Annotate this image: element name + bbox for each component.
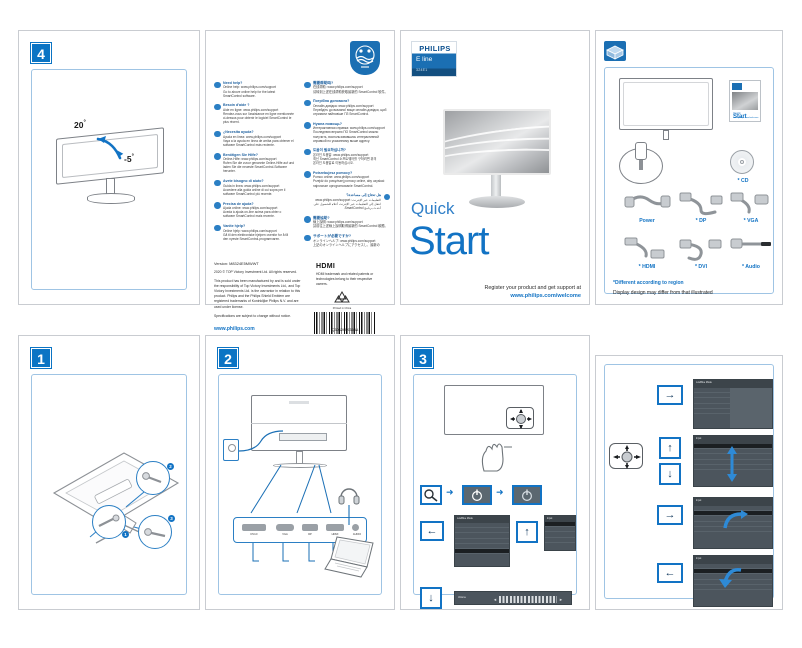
arrow-down-icon: ↓	[428, 593, 434, 604]
osd-row[interactable]	[545, 538, 575, 543]
globe-icon	[214, 180, 221, 187]
scroll-updown-arrow-icon	[724, 446, 740, 482]
accessory-vga-cable	[729, 190, 775, 221]
globe-icon	[214, 202, 221, 209]
language-entry: Нужна помощь? Интерактивная справка: www…	[304, 122, 390, 143]
osd-nav-menu-4: Input	[693, 555, 773, 607]
monitor-with-joystick	[444, 385, 548, 441]
callout-circle-3	[138, 515, 172, 549]
globe-icon	[304, 100, 311, 107]
joystick-control[interactable]	[506, 407, 534, 429]
language-column-right: 需要帮助吗? 在线帮助: www.philips.com/support请转到上…	[304, 81, 390, 252]
panel-tilt: 4 20° -5°	[18, 30, 200, 305]
port-label-dp: DP	[298, 533, 322, 536]
accessories-inner: Quick Start www.philips.com/welcome * CD	[604, 67, 774, 294]
panel-cover: PHILIPS E line 324E1 Quick Start Registe…	[400, 30, 590, 305]
globe-icon	[304, 216, 311, 223]
box-glyph	[604, 41, 626, 61]
panel-osd-navigation: → LowBlue Mode ↑ ↓	[595, 355, 783, 610]
sequence-arrow-1: ➜	[446, 487, 454, 498]
step-badge-4: 4	[31, 43, 51, 63]
back-arrow-icon	[718, 566, 744, 588]
card-url: www.philips.com/welcome	[733, 117, 758, 119]
panel-connections-inner: DVI-D VGA DP HDMI AUDIO	[218, 374, 382, 595]
accessory-dvi-cable	[677, 236, 725, 267]
accessory-monitor	[619, 78, 717, 140]
language-entry: Avete bisogno di aiuto? Guida in linea: …	[214, 179, 300, 196]
port-icon-dvi	[242, 524, 266, 531]
osd-volume-label: Volume	[458, 596, 466, 599]
osd-nav-menu-2: Input	[693, 435, 773, 487]
globe-icon	[214, 104, 221, 111]
power-icon	[521, 488, 533, 502]
hand-pointer-icon	[474, 437, 514, 473]
panel-base-assembly: 1	[18, 335, 200, 610]
osd-menu-title: Input	[696, 499, 701, 502]
power-icon	[471, 488, 483, 502]
osd-volume-bar[interactable]: Volume ◄ ►	[454, 591, 572, 605]
osd-menu-title: LowBlue Mode	[696, 381, 712, 384]
language-entry: Potrzebujesz pomocy? Pomoc online: www.p…	[304, 171, 390, 188]
title-quick: Quick	[411, 199, 454, 219]
callout-circle-1	[92, 505, 126, 539]
port-label-vga: VGA	[272, 533, 298, 536]
osd-nav-key-left[interactable]: ←	[657, 563, 683, 583]
osd-nav-key-right-1[interactable]: →	[657, 385, 683, 405]
accessory-stand-base	[619, 142, 669, 186]
osd-menu-lowblue: LowBlue Mode	[454, 515, 510, 567]
laptop-glyph	[323, 533, 381, 583]
osd-nav-key-up[interactable]: ↑	[659, 437, 681, 459]
osd-menu-input: Input	[544, 515, 576, 551]
philips-url[interactable]: www.philips.com	[214, 326, 255, 332]
accessory-hdmi-cable	[623, 236, 671, 267]
language-entry: 需要協助? 線上說明: www.philips.com/support請前往上述…	[304, 216, 390, 229]
globe-icon	[304, 122, 311, 129]
callout-number-1: 1	[122, 531, 129, 538]
card-logo-band	[732, 83, 742, 90]
joystick-glyph	[610, 444, 644, 470]
step-badge-1: 1	[31, 348, 51, 368]
dp-cable-glyph	[677, 190, 725, 216]
dvi-cable-glyph	[677, 236, 725, 262]
language-entry: Besoin d'aide ? Aide en ligne: www.phili…	[214, 103, 300, 124]
audio-cable-glyph	[729, 236, 775, 262]
joystick-glyph	[507, 408, 535, 430]
globe-icon	[304, 149, 311, 156]
callout-circle-2	[136, 461, 170, 495]
osd-menu-title: Input	[696, 557, 701, 560]
arrow-right-icon: →	[665, 390, 676, 401]
accessory-label-vga: * VGA	[725, 218, 777, 224]
register-text: Register your product and get support at	[431, 285, 581, 291]
laptop-illustration	[323, 533, 381, 583]
globe-icon	[214, 82, 221, 89]
globe-icon	[384, 194, 391, 201]
joystick-press-icon	[423, 488, 439, 502]
panel-accessories: Quick Start www.philips.com/welcome * CD	[595, 30, 783, 305]
box-open-icon	[604, 41, 626, 61]
osd-key-down[interactable]: ↓	[420, 587, 442, 609]
globe-icon	[214, 131, 221, 138]
osd-key-press[interactable]	[420, 485, 442, 505]
panel-tilt-inner: 20° -5°	[31, 69, 187, 290]
tilt-angle-down: -5°	[124, 154, 134, 164]
philips-shield-icon	[350, 41, 380, 75]
print-origin: Printed in China	[322, 307, 362, 310]
arrow-up-icon: ↑	[524, 527, 530, 538]
volume-level-ticks	[499, 596, 557, 603]
language-column-left: Need help? Online help: www.philips.com/…	[214, 81, 300, 246]
language-entry: 도움이 필요하십니까? 온라인 도움말: www.philips.com/sup…	[304, 148, 390, 165]
panel-connections: 2	[205, 335, 395, 610]
title-start: Start	[409, 219, 488, 264]
osd-menu-title: Input	[696, 437, 701, 440]
language-entry: Потрібна допомога? Онлайн-довідка: www.p…	[304, 99, 390, 116]
panel-power-osd: 3	[400, 335, 590, 610]
language-entry: サポートが必要ですか? オンラインヘルプ: www.philips.com/su…	[304, 234, 390, 247]
globe-icon	[214, 225, 221, 232]
product-series: E line	[416, 56, 432, 63]
philips-shield-glyph	[350, 41, 380, 75]
arrow-down-icon: ↓	[667, 469, 673, 480]
vga-cable-glyph	[729, 190, 775, 216]
osd-nav-key-down[interactable]: ↓	[659, 463, 681, 485]
accessory-quick-start-card: Quick Start www.philips.com/welcome	[729, 80, 761, 122]
tilt-monitor-illustration	[54, 125, 172, 210]
hero-monitor	[443, 109, 555, 229]
register-url[interactable]: www.philips.com/welcome	[431, 293, 581, 299]
step-badge-2: 2	[218, 348, 238, 368]
osd-key-up[interactable]: ↑	[516, 521, 538, 543]
tilt-angle-up: 20°	[74, 120, 86, 130]
sequence-arrow-2: ➜	[496, 487, 504, 498]
accessory-label-dvi: * DVI	[675, 264, 727, 270]
hdmi-cable-glyph	[623, 236, 671, 262]
language-entry: Precisa de ajuda? Ajuda online: www.phil…	[214, 202, 300, 219]
osd-key-left[interactable]: ←	[420, 521, 444, 541]
enter-submenu-arrow-icon	[722, 510, 748, 532]
card-monitor-image	[732, 92, 758, 110]
accessory-note-design: Display design may differ from that illu…	[613, 290, 713, 296]
hdmi-notice: HDMI trademark and related patents or te…	[316, 272, 376, 286]
globe-icon	[214, 153, 221, 160]
screwdriver-tool-icon	[139, 516, 173, 550]
panel-osd-nav-inner: → LowBlue Mode ↑ ↓	[604, 364, 774, 599]
arrow-left-icon: ←	[427, 526, 438, 537]
accessory-dp-cable	[677, 190, 725, 221]
callout-number-3: 3	[168, 515, 175, 522]
headphone-cable	[341, 505, 371, 533]
philips-brand-logo: PHILIPS E line 324E1	[411, 41, 457, 77]
language-entry: Vanite hjelp? Online hjelp: www.philips.…	[214, 224, 300, 241]
accessory-label-audio: * Audio	[725, 264, 777, 270]
headphone-glyph	[337, 485, 361, 507]
port-icon-dp	[302, 524, 318, 531]
recycle-icon	[331, 289, 353, 307]
philips-wordmark: PHILIPS	[412, 44, 458, 53]
globe-icon	[304, 82, 311, 89]
port-label-dvi: DVI-D	[238, 533, 270, 536]
panel-multilingual-help: Need help? Online help: www.philips.com/…	[205, 30, 395, 305]
panel-power-inner: ➜ ➜ ← LowBlue Mode	[413, 374, 577, 595]
osd-nav-menu-1: LowBlue Mode	[693, 379, 773, 429]
arrow-up-icon: ↑	[667, 443, 673, 454]
step-badge-3: 3	[413, 348, 433, 368]
product-model: 324E1	[416, 68, 427, 72]
osd-menu-title: Input	[547, 517, 552, 520]
osd-nav-key-right-2[interactable]: →	[657, 505, 683, 525]
accessory-label-cd: * CD	[723, 178, 763, 184]
globe-icon	[304, 171, 311, 178]
osd-row-selected[interactable]	[455, 549, 509, 554]
barcode-number: Q3032M5936BA	[314, 328, 376, 332]
callout-number-2: 2	[167, 463, 174, 470]
globe-icon	[304, 235, 311, 242]
accessory-audio-cable	[729, 236, 775, 267]
panel-base-inner: 1 2 3	[31, 374, 187, 595]
arrow-right-icon: →	[665, 510, 676, 521]
tilt-arrow-icon	[54, 125, 172, 210]
osd-nav-menu-3: Input	[693, 497, 773, 549]
language-entry: Benötigen Sie Hilfe? Online-Hilfe: www.p…	[214, 153, 300, 174]
osd-menu-title: LowBlue Mode	[457, 517, 473, 520]
language-entry: هل تحتاج إلى مساعدة؟ التعليمات عبر الإنت…	[304, 193, 390, 210]
accessory-note-region: *Different according to region	[613, 280, 684, 286]
arrow-left-icon: ←	[665, 568, 676, 579]
power-state-off	[462, 485, 492, 505]
joystick-reference[interactable]	[609, 443, 643, 469]
headphone-icon	[337, 485, 361, 507]
accessory-cd	[730, 150, 756, 176]
language-entry: 需要帮助吗? 在线帮助: www.philips.com/support请转到上…	[304, 81, 390, 94]
language-entry: Need help? Online help: www.philips.com/…	[214, 81, 300, 98]
quick-start-sheet: 4 20° -5°	[0, 0, 802, 648]
hdmi-logo: HDMI	[316, 263, 335, 270]
legal-version: Version: M8324E5MWWT 2020 © TOP Victory …	[214, 261, 302, 319]
language-entry: ¿Necesita ayuda? Ayuda en línea: www.phi…	[214, 130, 300, 147]
accessory-label-hdmi: * HDMI	[621, 264, 673, 270]
screw-icon	[137, 462, 171, 496]
accessory-power-cable	[623, 190, 671, 221]
accessory-label-dp: * DP	[675, 218, 727, 224]
power-state-on	[512, 485, 542, 505]
accessory-label-power: Power	[621, 218, 673, 224]
power-cable-glyph	[623, 190, 671, 216]
port-icon-vga	[276, 524, 294, 531]
